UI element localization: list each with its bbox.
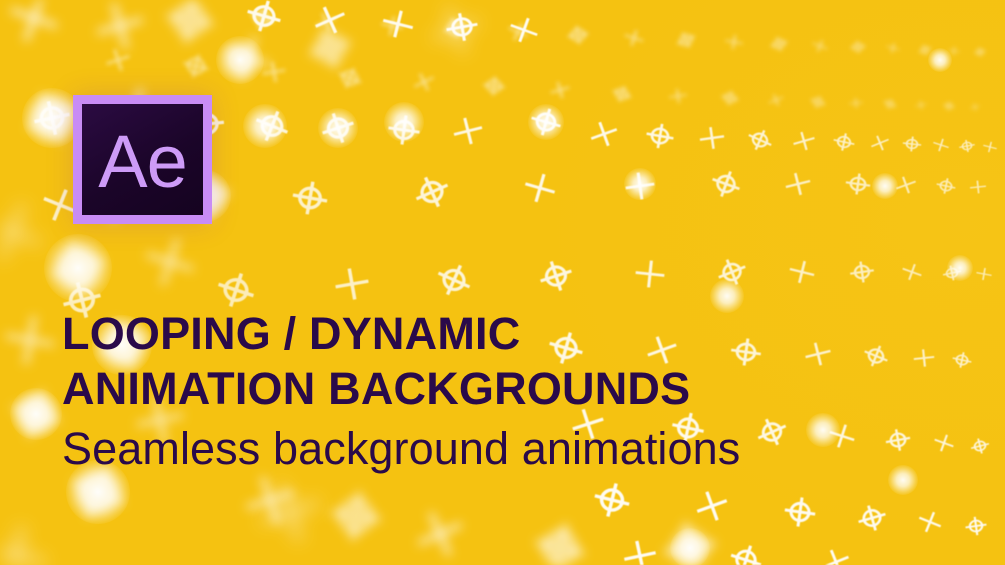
title-card-canvas: Ae LOOPING / DYNAMIC ANIMATION BACKGROUN…	[0, 0, 1005, 565]
headline-line-1: LOOPING / DYNAMIC	[62, 306, 822, 361]
pattern-layer-nearest	[0, 0, 1005, 565]
background-pattern	[0, 0, 1005, 565]
headline-line-2: ANIMATION BACKGROUNDS	[62, 361, 822, 416]
subheadline: Seamless background animations	[62, 420, 822, 478]
after-effects-glyph: Ae	[98, 125, 187, 199]
after-effects-logo-inner: Ae	[82, 104, 203, 215]
after-effects-logo: Ae	[73, 95, 212, 224]
copy-block: LOOPING / DYNAMIC ANIMATION BACKGROUNDS …	[62, 306, 822, 478]
